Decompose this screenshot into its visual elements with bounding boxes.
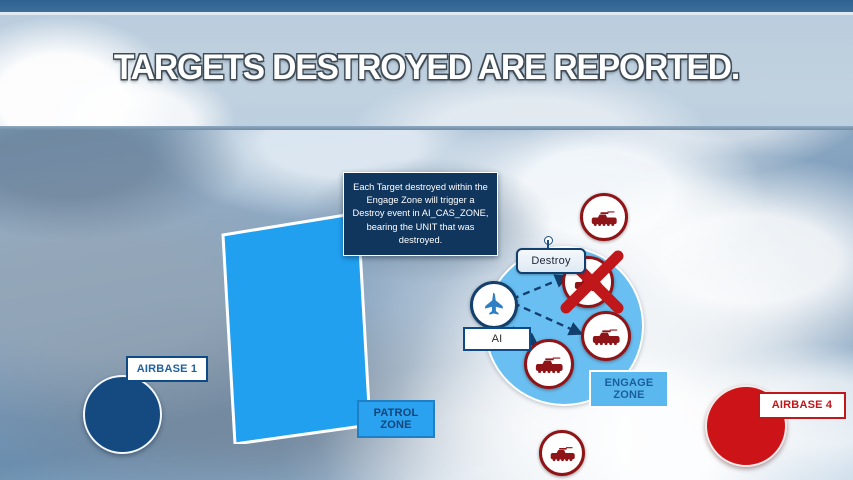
page-title: TARGETS DESTROYED ARE REPORTED. <box>17 48 836 88</box>
callout-box: Each Target destroyed within the Engage … <box>343 172 498 256</box>
armored-vehicle-icon <box>534 354 564 374</box>
top-sky-strip <box>0 0 853 12</box>
target-outside-top-marker[interactable] <box>580 193 628 241</box>
callout-text: Each Target destroyed within the Engage … <box>344 181 497 247</box>
target-outside-bottom-marker[interactable] <box>539 430 585 476</box>
ai-unit-label[interactable]: AI <box>463 327 531 351</box>
patrol-zone-label-line1: PATROL <box>374 407 419 419</box>
airbase-1-label[interactable]: AIRBASE 1 <box>126 356 208 382</box>
engage-zone-label-line1: ENGAGE <box>605 377 654 389</box>
patrol-zone-label-line2: ZONE <box>380 419 411 431</box>
armored-vehicle-icon <box>591 326 621 346</box>
patrol-zone-label[interactable]: PATROL ZONE <box>357 400 435 438</box>
banner-bottom-edge <box>0 126 853 130</box>
fighter-jet-icon <box>479 290 509 320</box>
target-bottom-marker[interactable] <box>524 339 574 389</box>
armored-vehicle-icon <box>573 272 603 292</box>
airbase-1-marker[interactable] <box>83 375 162 454</box>
engage-zone-label-line2: ZONE <box>613 389 644 401</box>
ai-unit-marker[interactable] <box>470 281 518 329</box>
armored-vehicle-icon <box>549 444 576 462</box>
engage-zone-label[interactable]: ENGAGE ZONE <box>589 370 669 408</box>
airbase-4-label[interactable]: AIRBASE 4 <box>758 392 846 419</box>
destroy-event-label[interactable]: Destroy <box>516 248 586 274</box>
target-right-marker[interactable] <box>581 311 631 361</box>
armored-vehicle-icon <box>590 208 618 227</box>
banner-top-edge <box>0 12 853 15</box>
slide-canvas: TARGETS DESTROYED ARE REPORTED. <box>0 0 853 480</box>
